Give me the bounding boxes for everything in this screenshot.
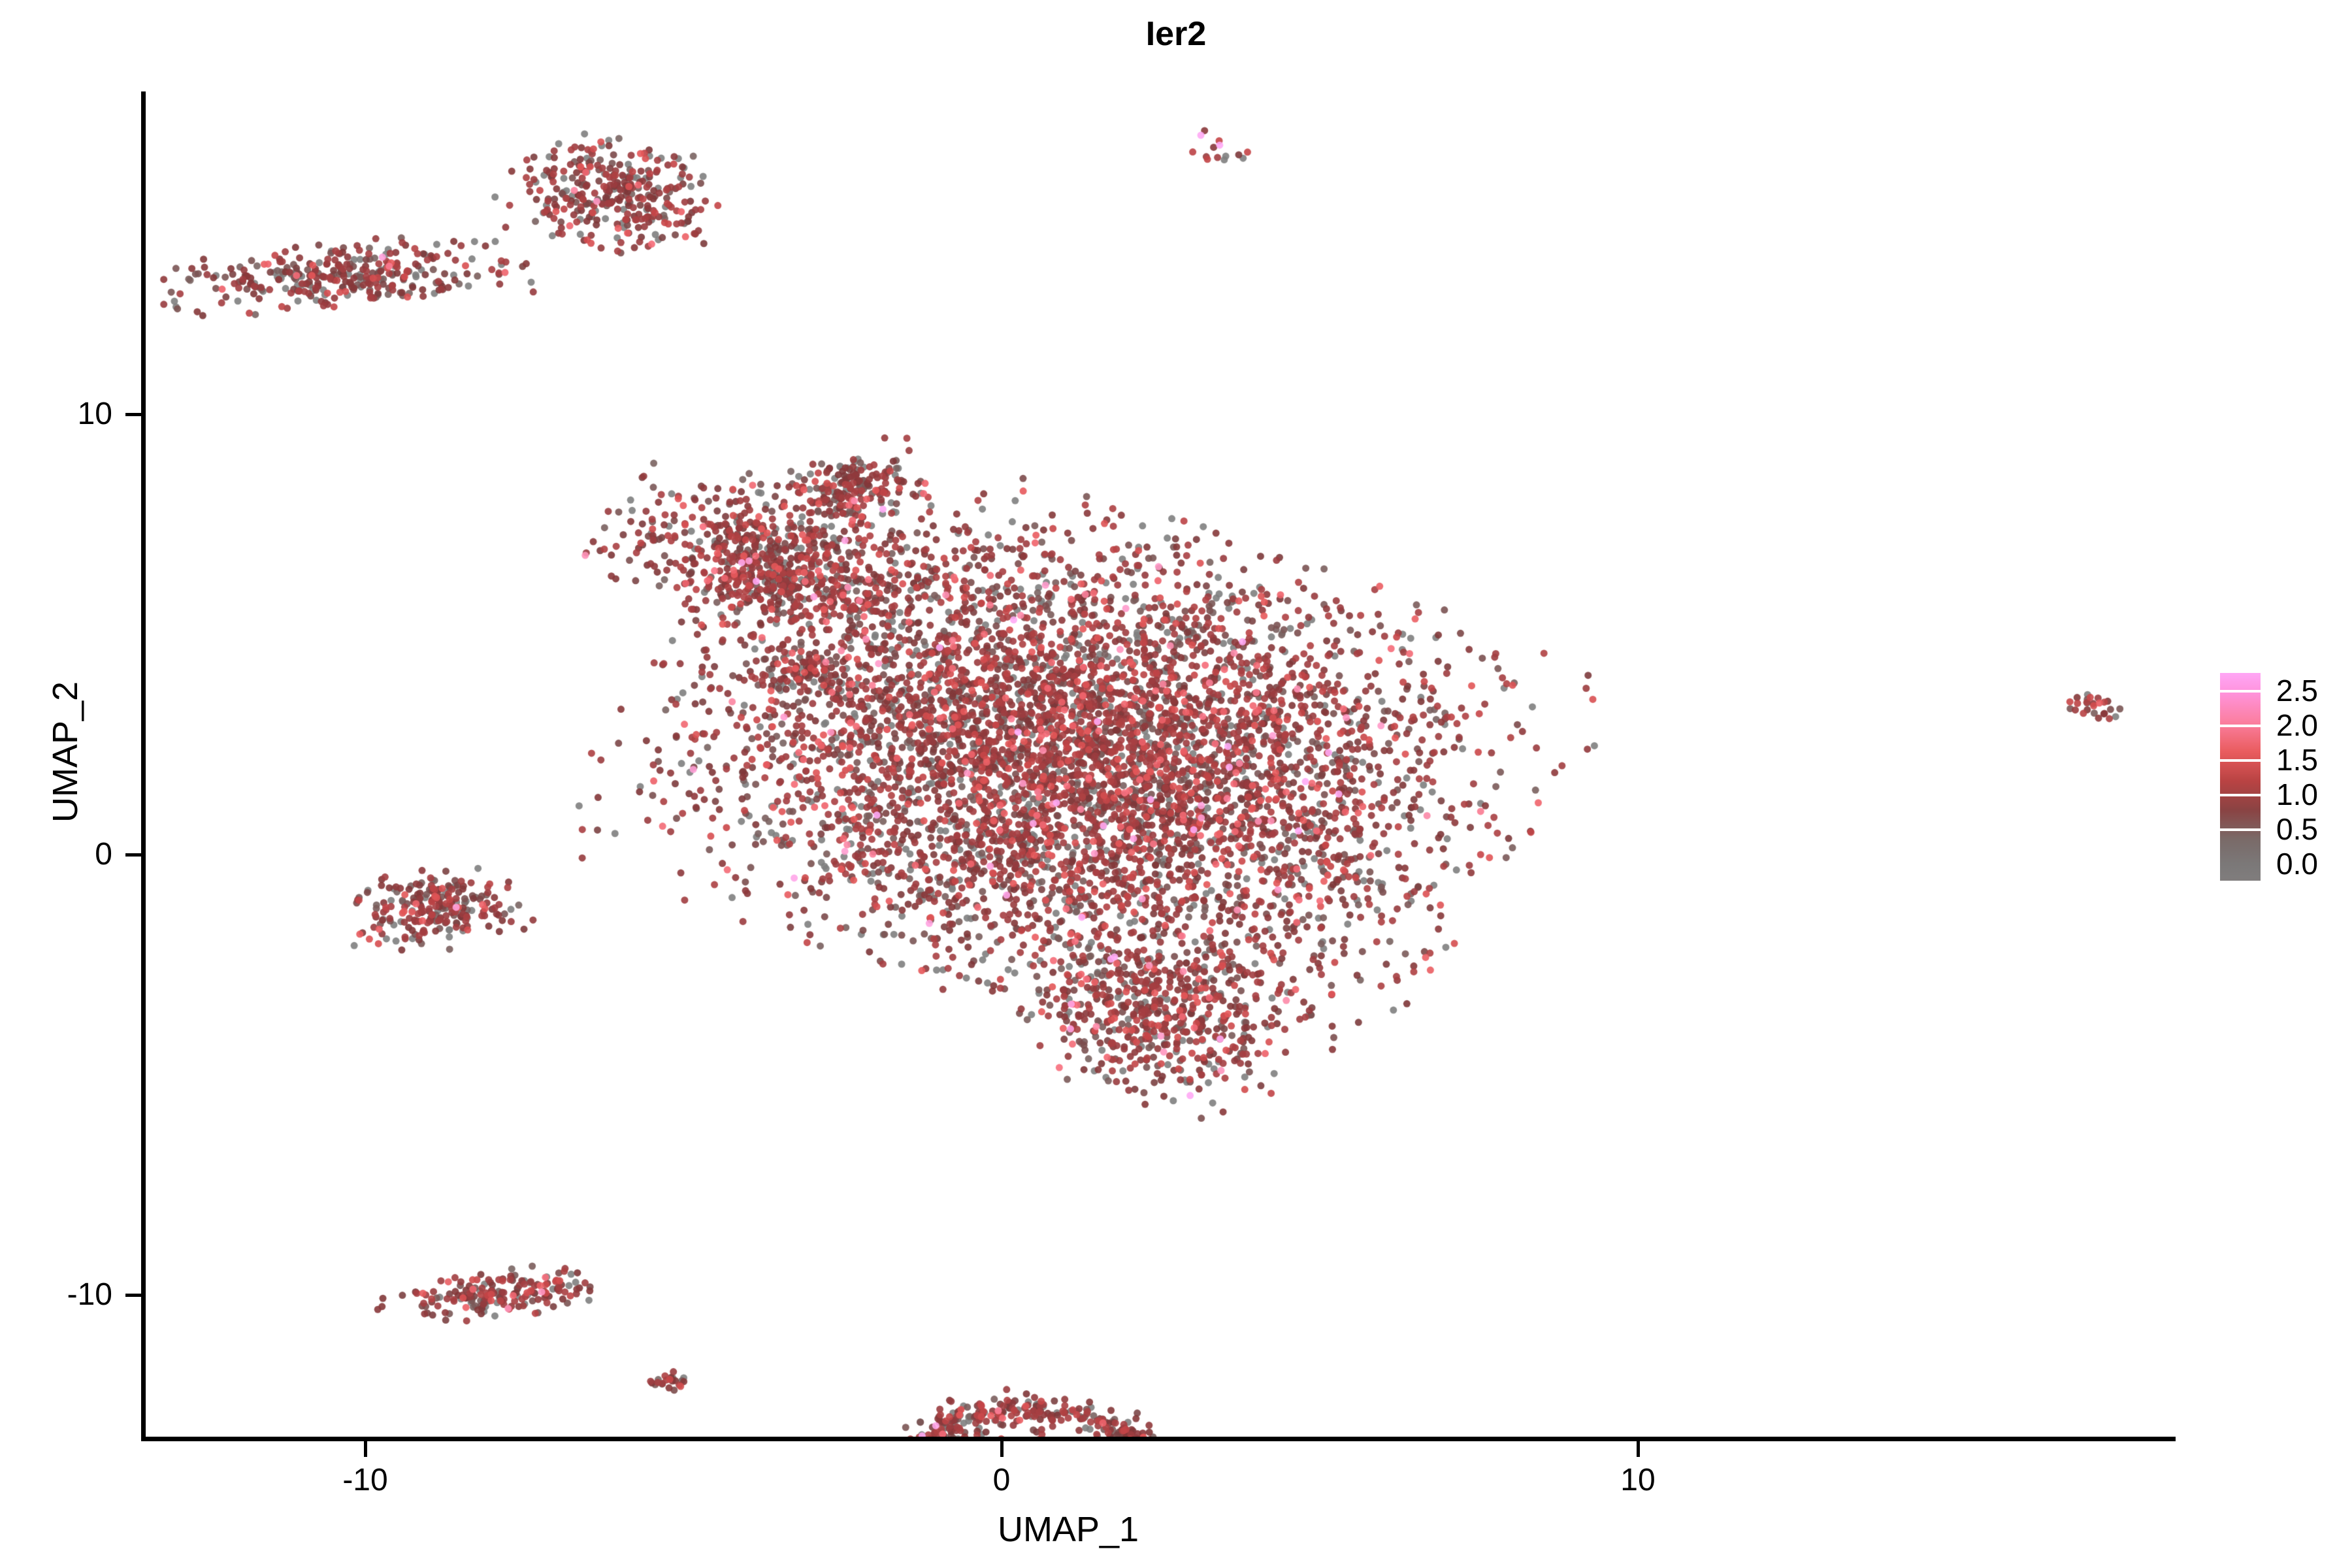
colorbar-label-1-0: 1.0 bbox=[2276, 779, 2318, 809]
colorbar-label-2-0: 2.0 bbox=[2276, 710, 2318, 740]
colorbar-tick-1-5 bbox=[2220, 759, 2261, 762]
colorbar-label-2-5: 2.5 bbox=[2276, 676, 2318, 706]
page-title: Ier2 bbox=[0, 14, 2352, 54]
x-tick-label-0: 0 bbox=[904, 1462, 1100, 1498]
y-tick-mark-neg10 bbox=[125, 1294, 141, 1297]
x-axis-line bbox=[141, 1437, 2176, 1441]
x-tick-label-10: 10 bbox=[1540, 1462, 1736, 1498]
x-tick-mark-10 bbox=[1637, 1441, 1640, 1457]
plot-panel bbox=[144, 91, 2176, 1439]
colorbar-tick-0-5 bbox=[2220, 828, 2261, 831]
colorbar-tick-2-5 bbox=[2220, 690, 2261, 693]
scatter-canvas bbox=[144, 91, 2176, 1439]
y-axis-label: UMAP_2 bbox=[45, 360, 86, 1144]
colorbar-gradient bbox=[2220, 673, 2261, 881]
colorbar-tick-2-0 bbox=[2220, 725, 2261, 727]
y-tick-mark-0 bbox=[125, 853, 141, 857]
y-tick-mark-10 bbox=[125, 413, 141, 416]
colorbar-label-0-0: 0.0 bbox=[2276, 849, 2318, 879]
y-tick-label-neg10: -10 bbox=[0, 1277, 112, 1313]
y-axis-line bbox=[141, 91, 146, 1441]
colorbar-tick-1-0 bbox=[2220, 794, 2261, 796]
colorbar-legend: 2.5 2.0 1.5 1.0 0.5 0.0 bbox=[2220, 673, 2344, 889]
x-tick-mark-0 bbox=[1000, 1441, 1004, 1457]
umap-feature-plot: Ier2 -10 0 10 10 0 -10 UMAP_1 UMAP_2 2.5… bbox=[0, 0, 2352, 1568]
x-axis-label: UMAP_1 bbox=[0, 1509, 2352, 1550]
x-tick-mark-neg10 bbox=[364, 1441, 367, 1457]
colorbar-label-0-5: 0.5 bbox=[2276, 814, 2318, 844]
colorbar-label-1-5: 1.5 bbox=[2276, 745, 2318, 775]
x-tick-label-neg10: -10 bbox=[267, 1462, 463, 1498]
